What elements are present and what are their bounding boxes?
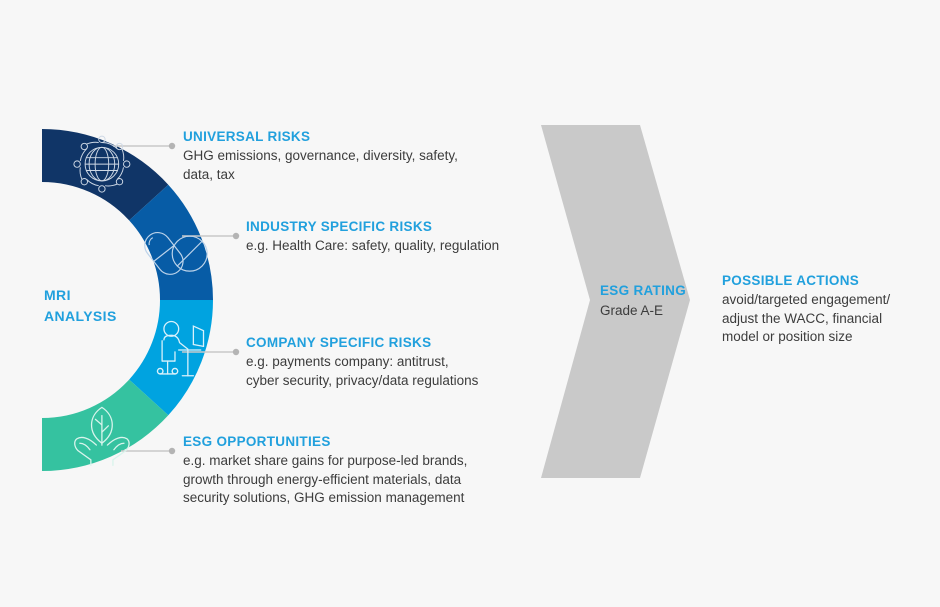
callout-body-industry-specific-risks: e.g. Health Care: safety, quality, regul… [246,237,499,256]
callout-universal-risks: UNIVERSAL RISKS GHG emissions, governanc… [183,128,458,184]
callout-body-esg-opportunities: e.g. market share gains for purpose-led … [183,452,467,508]
callout-title-industry-specific-risks: INDUSTRY SPECIFIC RISKS [246,218,499,235]
text-layer: MRI ANALYSIS UNIVERSAL RISKS GHG emissio… [0,0,940,607]
possible-actions-body: avoid/targeted engagement/ adjust the WA… [722,291,890,347]
callout-company-specific-risks: COMPANY SPECIFIC RISKS e.g. payments com… [246,334,478,390]
esg-rating-subtitle: Grade A-E [600,303,663,318]
callout-body-universal-risks: GHG emissions, governance, diversity, sa… [183,147,458,184]
mri-analysis-center-label: MRI ANALYSIS [44,285,117,327]
callout-industry-specific-risks: INDUSTRY SPECIFIC RISKS e.g. Health Care… [246,218,499,256]
callout-title-universal-risks: UNIVERSAL RISKS [183,128,458,145]
callout-body-company-specific-risks: e.g. payments company: antitrust, cyber … [246,353,478,390]
callout-esg-opportunities: ESG OPPORTUNITIES e.g. market share gain… [183,433,467,508]
diagram-canvas: MRI ANALYSIS UNIVERSAL RISKS GHG emissio… [0,0,940,607]
callout-title-company-specific-risks: COMPANY SPECIFIC RISKS [246,334,478,351]
esg-rating-title: ESG RATING [600,283,686,298]
possible-actions-title: POSSIBLE ACTIONS [722,272,890,289]
callout-title-esg-opportunities: ESG OPPORTUNITIES [183,433,467,450]
possible-actions-block: POSSIBLE ACTIONS avoid/targeted engageme… [722,272,890,347]
